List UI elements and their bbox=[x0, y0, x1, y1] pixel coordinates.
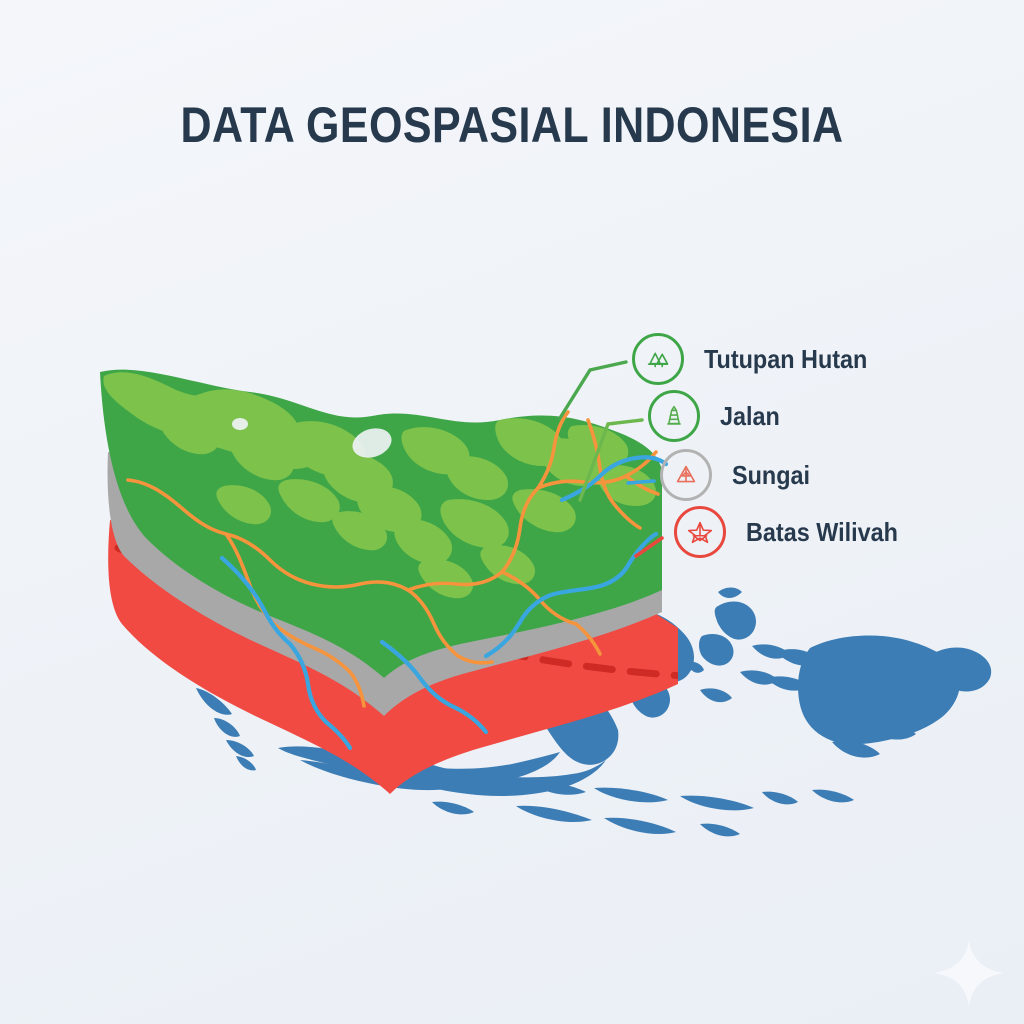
forest-trees-icon bbox=[632, 333, 684, 385]
legend-label: Jalan bbox=[720, 401, 780, 432]
map-legend: Tutupan Hutan Jalan bbox=[618, 333, 1018, 568]
sparkle-watermark bbox=[932, 938, 1006, 1008]
star-burst-icon bbox=[674, 506, 726, 558]
triangle-tree-icon bbox=[660, 449, 712, 501]
legend-item-jalan[interactable]: Jalan bbox=[648, 390, 787, 442]
legend-item-tutupan-hutan[interactable]: Tutupan Hutan bbox=[632, 333, 885, 385]
tower-icon bbox=[648, 390, 700, 442]
leader-line-tutupan-hutan bbox=[560, 362, 626, 418]
legend-label: Sungai bbox=[732, 460, 810, 491]
legend-label: Batas Wilivah bbox=[746, 517, 898, 548]
legend-label: Tutupan Hutan bbox=[704, 344, 867, 375]
infographic-canvas: DATA GEOSPASIAL INDONESIA bbox=[0, 0, 1024, 1024]
legend-item-sungai[interactable]: Sungai bbox=[660, 449, 819, 501]
legend-item-batas-wilayah[interactable]: Batas Wilivah bbox=[674, 506, 915, 558]
